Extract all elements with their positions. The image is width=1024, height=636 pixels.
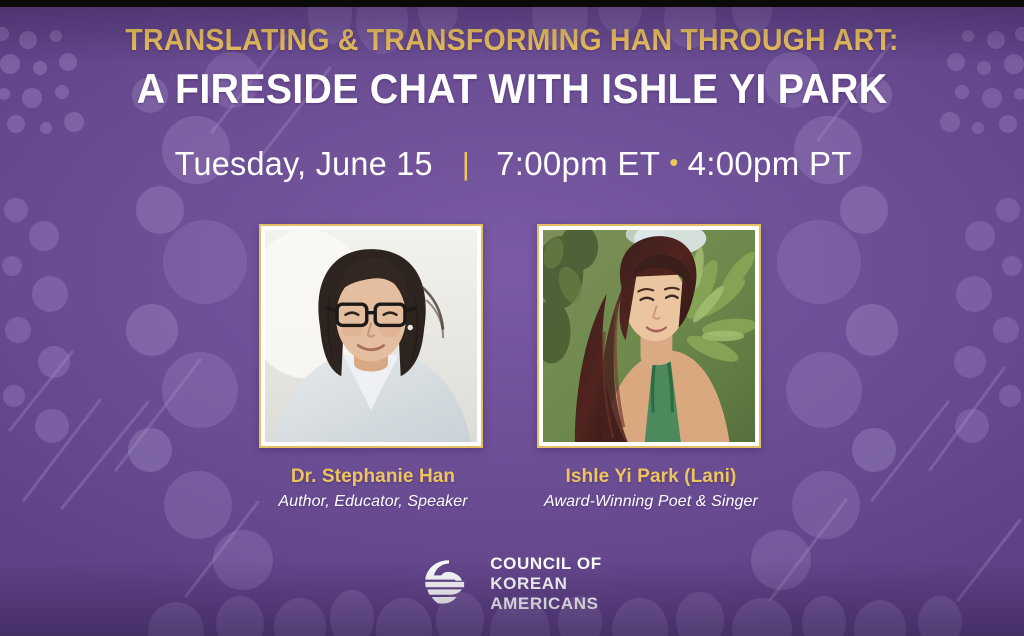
event-poster: TRANSLATING & TRANSFORMING HAN THROUGH A… — [0, 0, 1024, 636]
speaker-role: Award-Winning Poet & Singer — [537, 493, 765, 511]
speaker-name: Dr. Stephanie Han — [259, 466, 487, 488]
speakers-row: Dr. Stephanie Han Author, Educator, Spea… — [0, 224, 1024, 511]
logo-line-2: KOREAN — [490, 574, 601, 594]
logo-line-3: AMERICANS — [490, 594, 601, 614]
event-time-et: 7:00pm ET — [496, 145, 660, 183]
speaker-name: Ishle Yi Park (Lani) — [537, 466, 765, 488]
event-times: 7:00pm ET • 4:00pm PT — [496, 145, 852, 183]
event-title-secondary: A FIRESIDE CHAT WITH ISHLE YI PARK — [31, 65, 994, 112]
speaker-card-stephanie-han: Dr. Stephanie Han Author, Educator, Spea… — [259, 224, 487, 511]
event-title-primary: TRANSLATING & TRANSFORMING HAN THROUGH A… — [41, 24, 983, 57]
organization-name: COUNCIL OF KOREAN AMERICANS — [490, 554, 601, 614]
photo-frame — [259, 224, 483, 448]
speaker-caption: Ishle Yi Park (Lani) Award-Winning Poet … — [537, 466, 765, 511]
event-date: Tuesday, June 15 — [175, 145, 433, 183]
letterbox-bar-top — [0, 0, 1024, 7]
speaker-role: Author, Educator, Speaker — [259, 493, 487, 511]
speaker-photo-ishle-yi-park — [543, 230, 755, 442]
title-block: TRANSLATING & TRANSFORMING HAN THROUGH A… — [0, 24, 1024, 112]
speaker-photo-stephanie-han — [265, 230, 477, 442]
organization-logo: COUNCIL OF KOREAN AMERICANS — [0, 554, 1024, 614]
event-datetime: Tuesday, June 15 | 7:00pm ET • 4:00pm PT — [0, 145, 1024, 183]
cka-circle-wave-mark — [422, 557, 476, 611]
logo-line-1: COUNCIL OF — [490, 554, 601, 574]
speaker-caption: Dr. Stephanie Han Author, Educator, Spea… — [259, 466, 487, 511]
time-separator-dot: • — [669, 149, 678, 175]
datetime-divider: | — [462, 148, 470, 179]
event-time-pt: 4:00pm PT — [688, 145, 852, 183]
speaker-card-ishle-yi-park: Ishle Yi Park (Lani) Award-Winning Poet … — [537, 224, 765, 511]
photo-frame — [537, 224, 761, 448]
